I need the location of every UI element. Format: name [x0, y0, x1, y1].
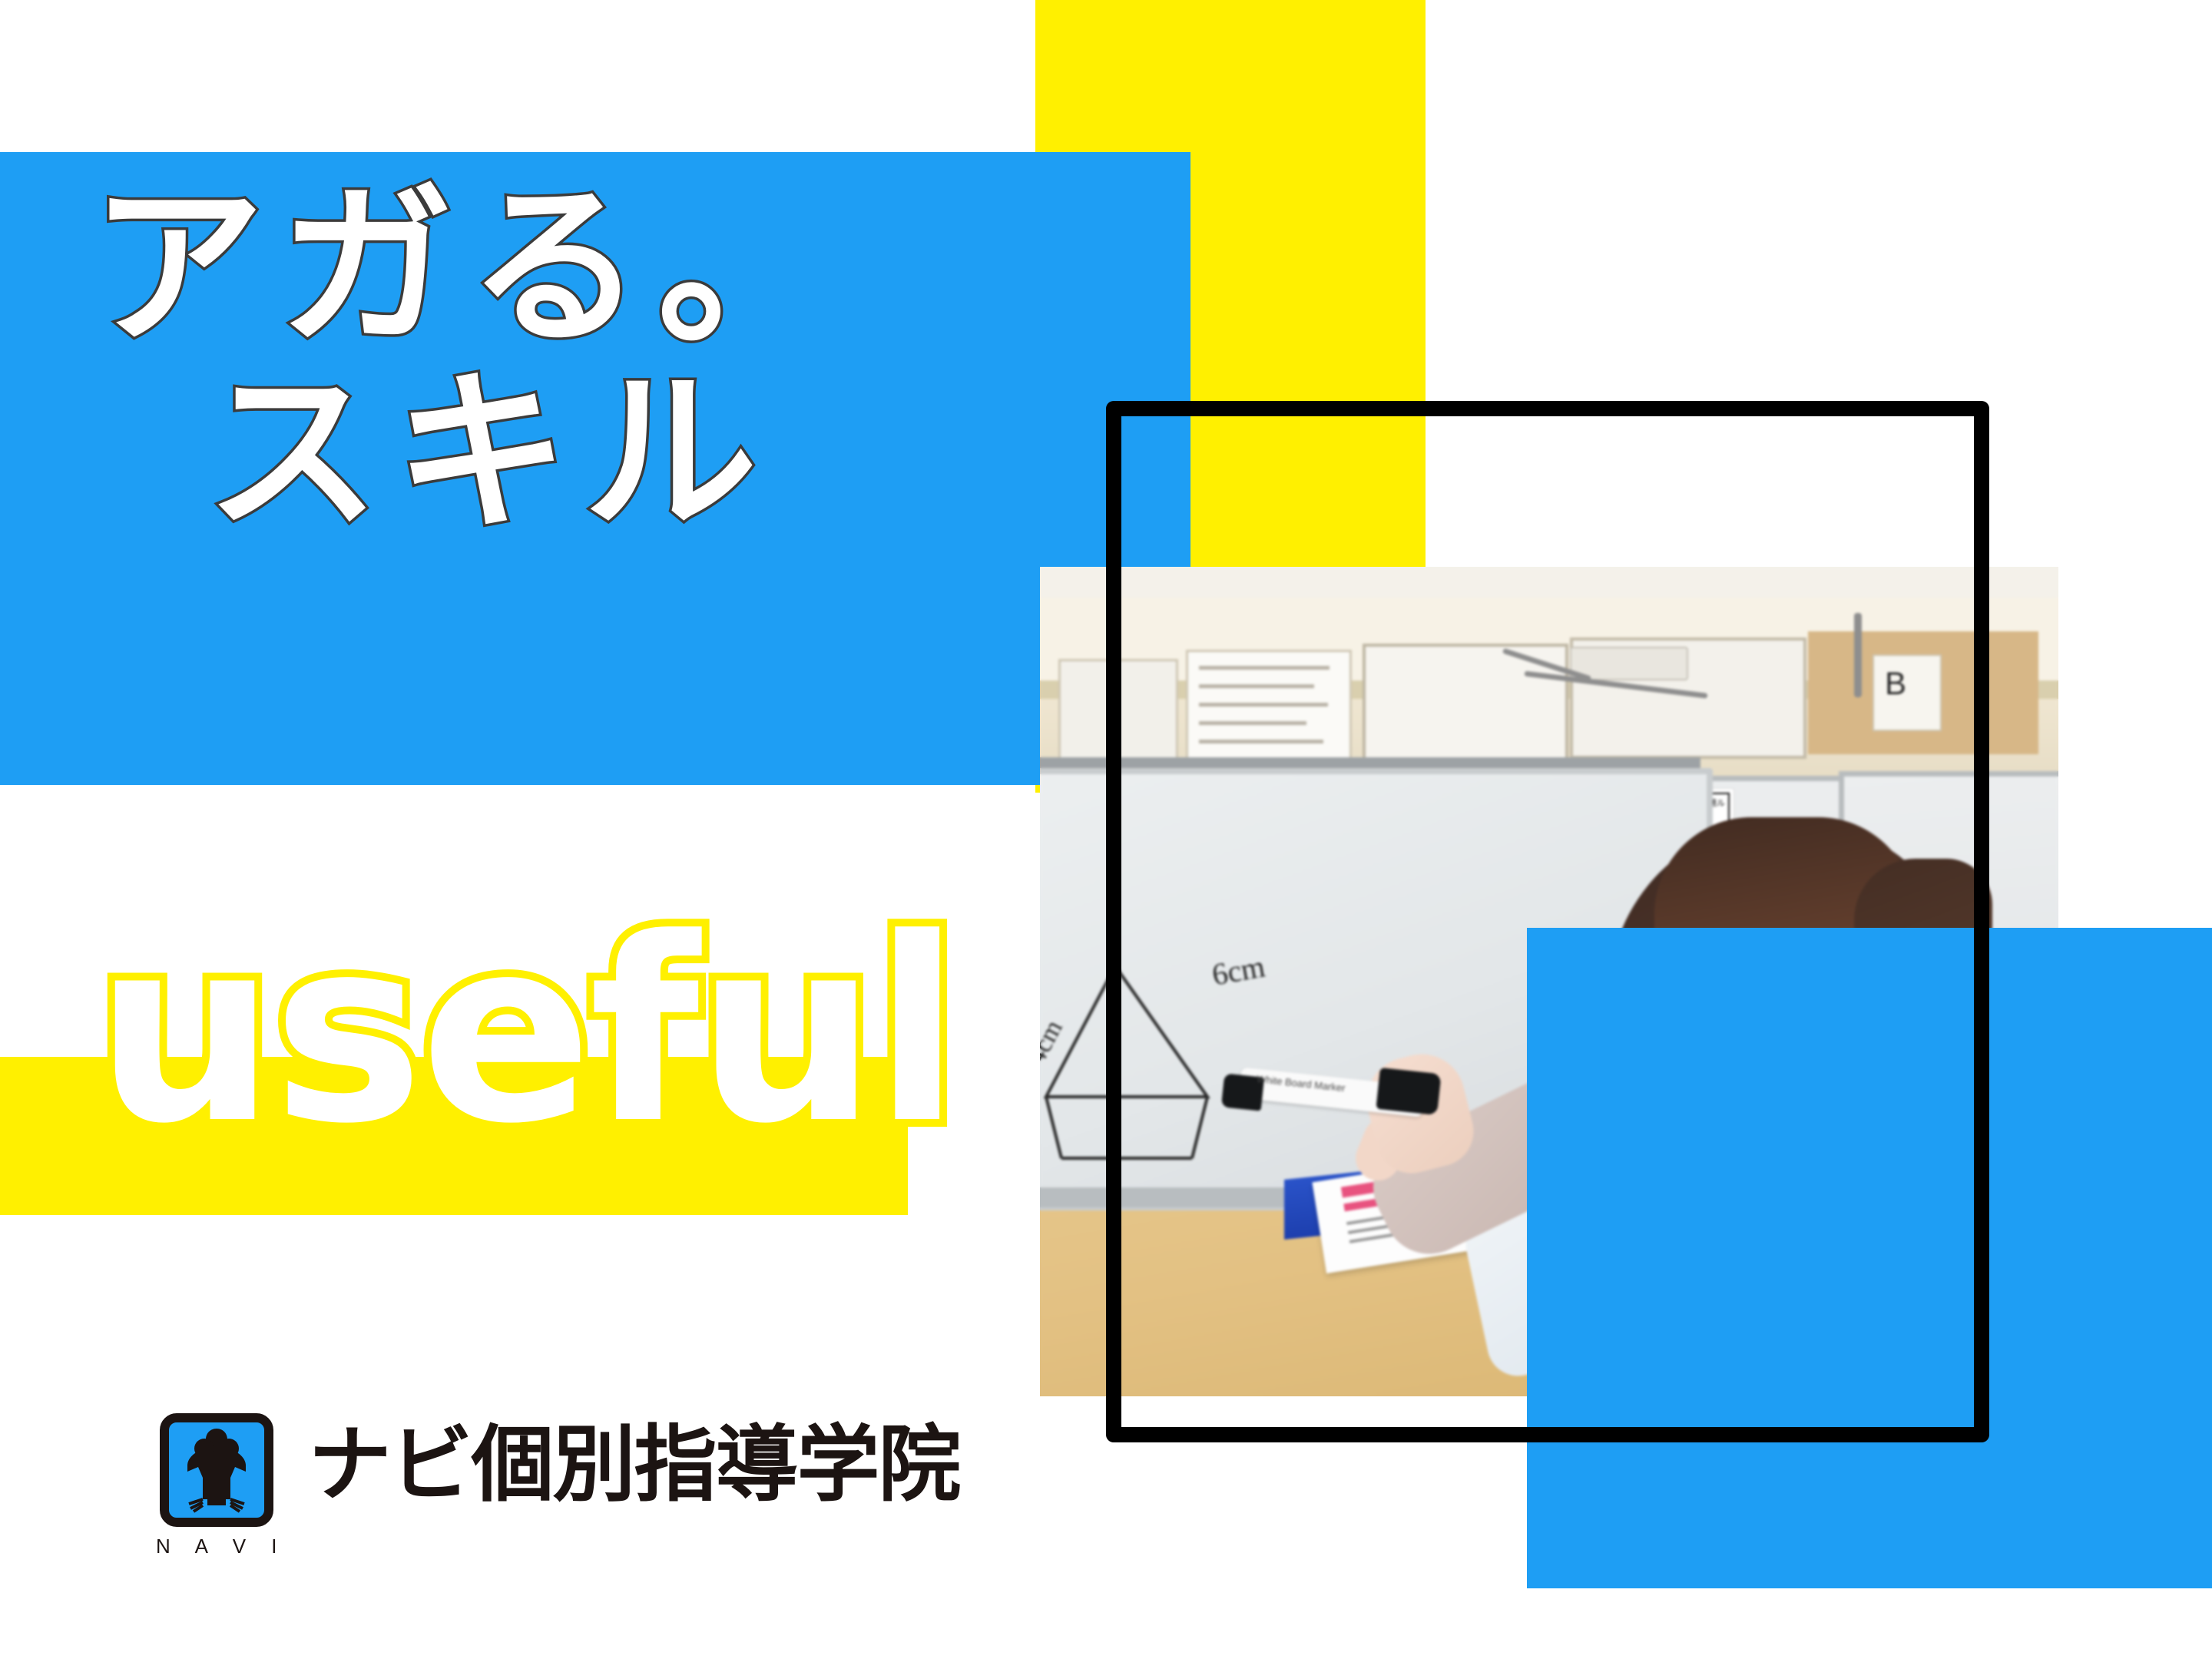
- brand-logo: N A V I ナビ個別指導学院: [146, 1413, 960, 1558]
- poster-canvas: B 学生の皆さんへ ナビ個別の成績アップ的中は 3 回くり返し」! »»» 定期…: [0, 0, 2212, 1659]
- accent-word-useful: useful: [95, 905, 958, 1158]
- logo-mark-wrap: N A V I: [146, 1413, 287, 1558]
- black-photo-frame: [1106, 401, 1989, 1442]
- headline-line-2: スキル: [206, 367, 773, 541]
- navi-frog-mascot-icon: [160, 1413, 273, 1527]
- logo-navi-caption: N A V I: [146, 1535, 287, 1558]
- navi-frog-glyph: [169, 1422, 264, 1518]
- headline-line-1: アガる。: [91, 181, 846, 355]
- logo-wordmark: ナビ個別指導学院: [309, 1413, 960, 1517]
